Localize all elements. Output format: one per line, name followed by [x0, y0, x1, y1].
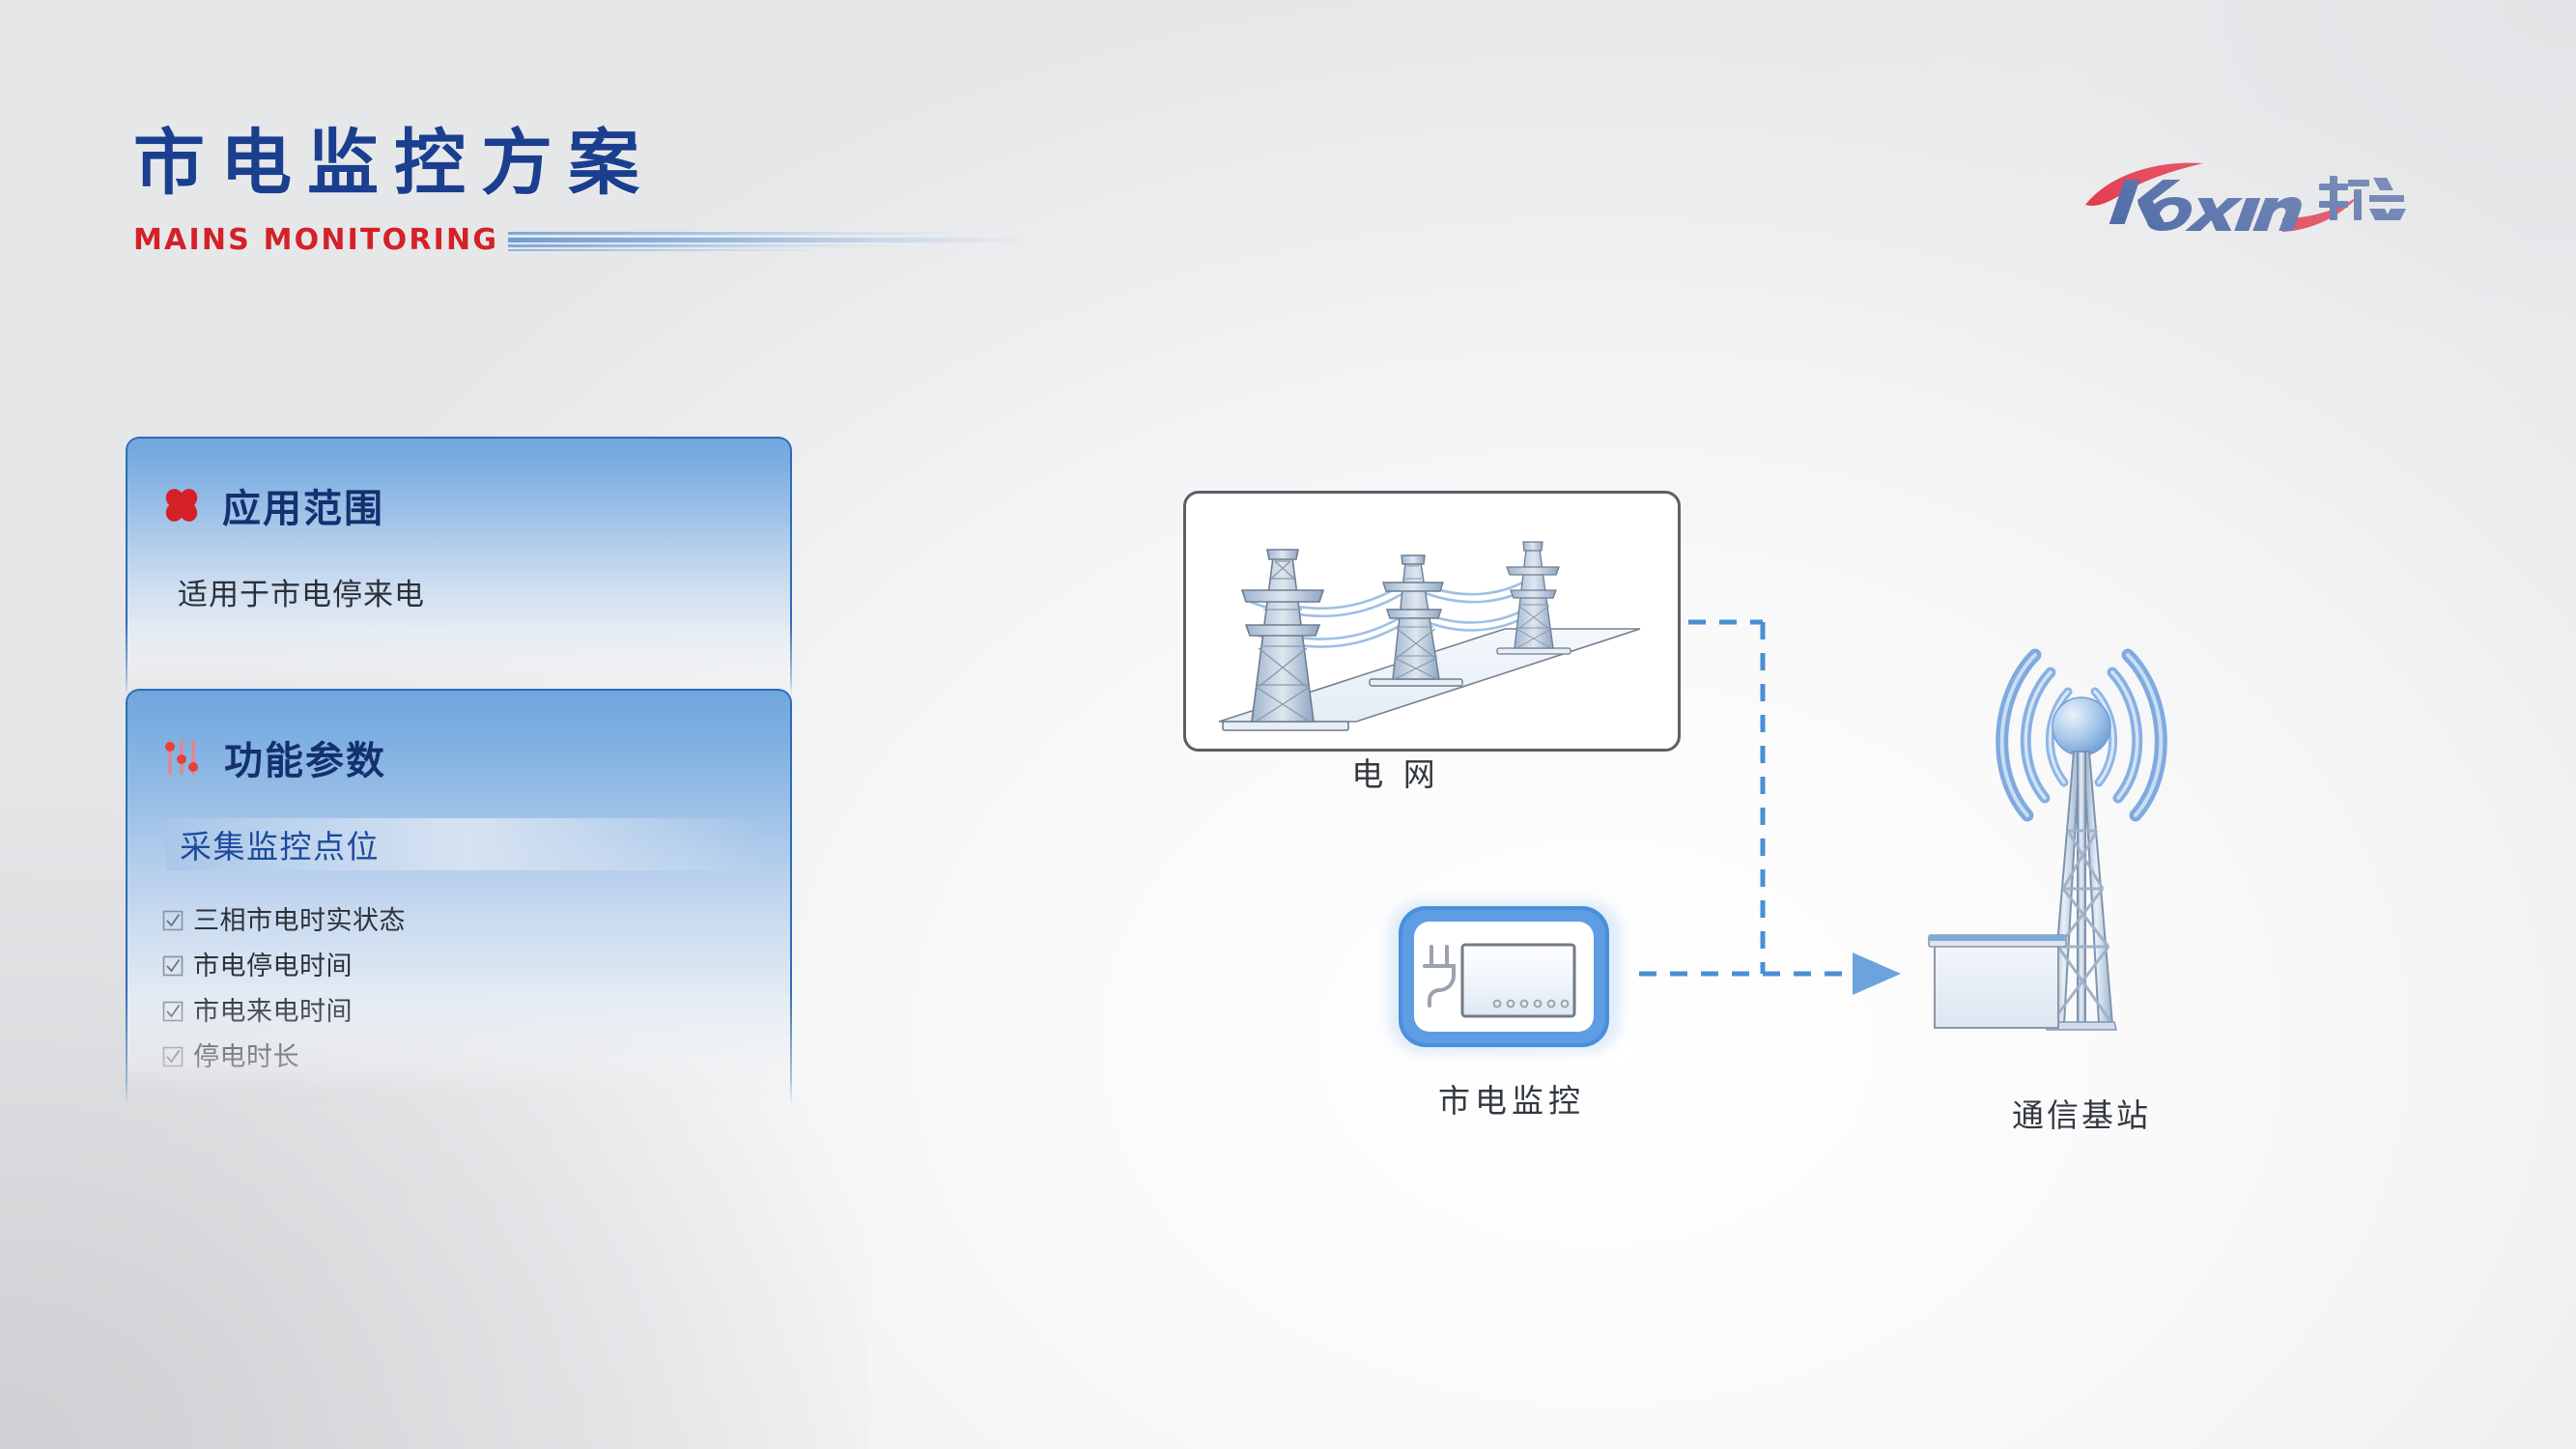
node-label-station: 通信基站	[1927, 1090, 2236, 1136]
slide-canvas: 市电监控方案 MAINS MONITORING	[0, 0, 2576, 1449]
node-label-monitor: 市电监控	[1386, 1075, 1637, 1122]
power-grid-box	[1183, 491, 1681, 752]
cellular-base-station-tower-icon	[1927, 541, 2236, 1077]
node-label-grid: 电 网	[1270, 749, 1521, 795]
mains-monitor-device-icon	[1379, 893, 1630, 1062]
